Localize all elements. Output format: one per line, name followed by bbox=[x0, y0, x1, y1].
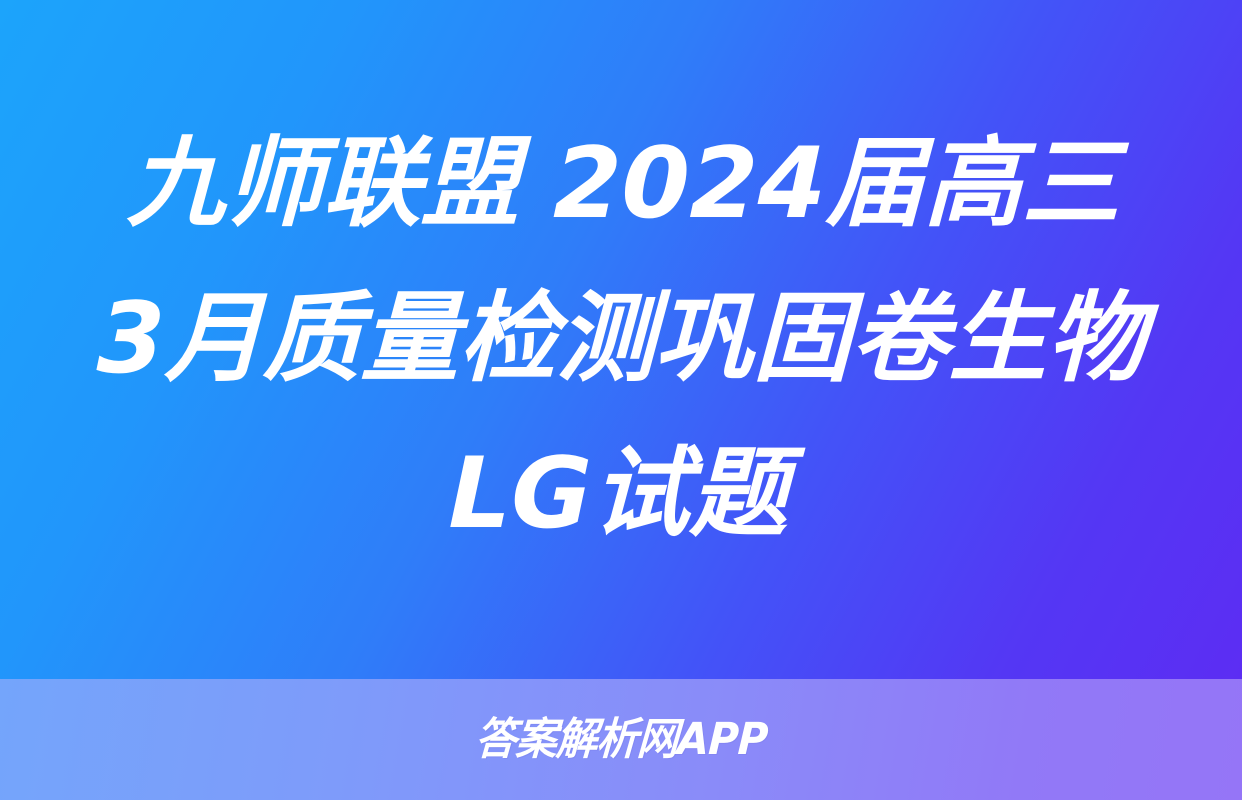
hero-banner: 九师联盟 2024届高三3月质量检测巩固卷生物LG试题 bbox=[0, 0, 1242, 679]
poster-card: 九师联盟 2024届高三3月质量检测巩固卷生物LG试题 答案解析网APP bbox=[0, 0, 1242, 800]
watermark-text: 答案解析网APP bbox=[474, 716, 768, 764]
footer-watermark-bar: 答案解析网APP bbox=[0, 679, 1242, 800]
page-title: 九师联盟 2024届高三3月质量检测巩固卷生物LG试题 bbox=[92, 107, 1150, 572]
